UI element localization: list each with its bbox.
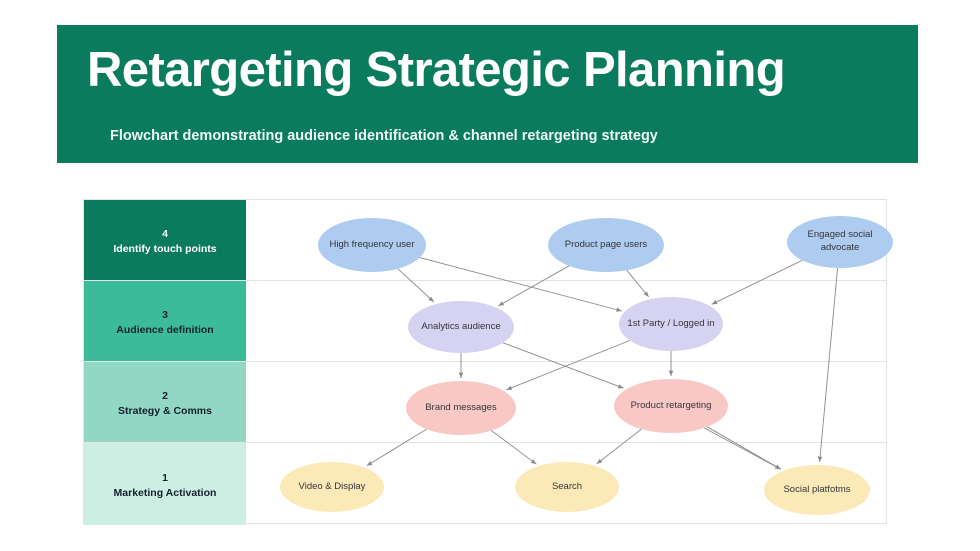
node-first-party-logged-in[interactable]: 1st Party / Logged in xyxy=(619,297,723,351)
lane-name: Identify touch points xyxy=(84,242,246,257)
node-engaged-social-advocate[interactable]: Engaged social advocate xyxy=(787,216,893,268)
lane-name: Strategy & Comms xyxy=(84,404,246,419)
lane-name: Audience definition xyxy=(84,323,246,338)
node-social-platforms[interactable]: Social platfotms xyxy=(764,465,870,515)
node-high-frequency-user[interactable]: High frequency user xyxy=(318,218,426,272)
node-analytics-audience[interactable]: Analytics audience xyxy=(408,301,514,353)
lane-label-4: 4Identify touch points xyxy=(84,227,246,257)
lane-label-3: 3Audience definition xyxy=(84,308,246,338)
header-banner: Retargeting Strategic Planning Flowchart… xyxy=(57,25,918,163)
node-brand-messages[interactable]: Brand messages xyxy=(406,381,516,435)
swimlane-row-4: 4Identify touch points xyxy=(84,200,886,281)
node-video-and-display[interactable]: Video & Display xyxy=(280,462,384,512)
swimlane-container: 4Identify touch points3Audience definiti… xyxy=(84,200,886,523)
lane-name: Marketing Activation xyxy=(84,486,246,501)
lane-number: 3 xyxy=(84,308,246,323)
node-search[interactable]: Search xyxy=(515,462,619,512)
lane-number: 1 xyxy=(84,471,246,486)
page-subtitle: Flowchart demonstrating audience identif… xyxy=(110,128,900,144)
page-title: Retargeting Strategic Planning xyxy=(87,45,887,96)
lane-number: 2 xyxy=(84,389,246,404)
lane-label-2: 2Strategy & Comms xyxy=(84,389,246,419)
lane-number: 4 xyxy=(84,227,246,242)
node-product-page-users[interactable]: Product page users xyxy=(548,218,664,272)
flowchart-canvas: 4Identify touch points3Audience definiti… xyxy=(83,199,887,524)
lane-label-1: 1Marketing Activation xyxy=(84,471,246,501)
node-product-retargeting[interactable]: Product retargeting xyxy=(614,379,728,433)
